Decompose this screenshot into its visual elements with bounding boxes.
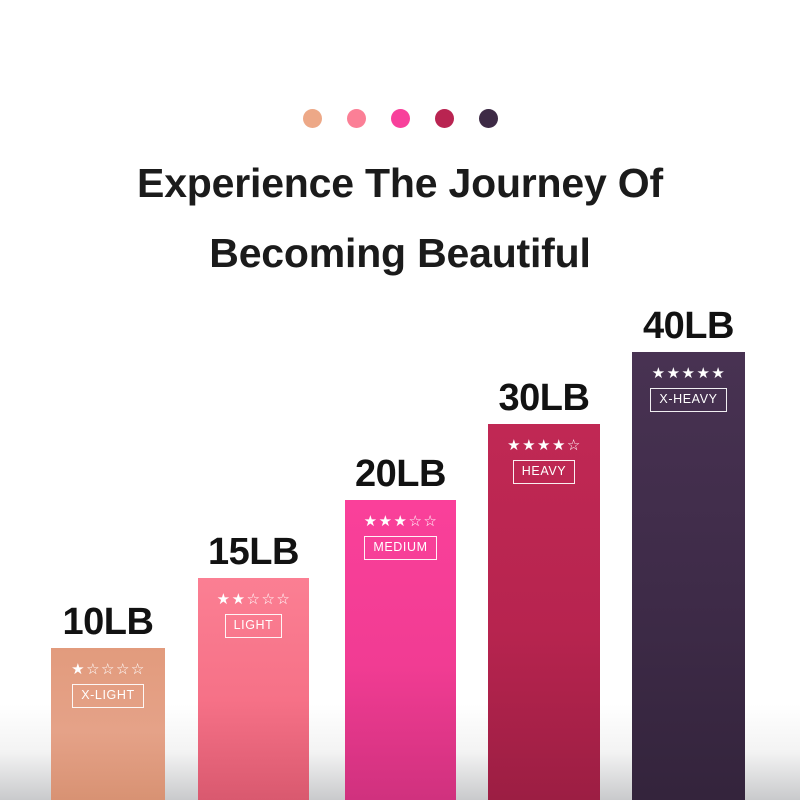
- bar-40lb-gradient-fill: [632, 352, 745, 800]
- star-empty-icon: ☆: [116, 662, 130, 677]
- bar-30lb-star-rating: ★★★★☆: [507, 438, 581, 453]
- star-filled-icon: ★: [217, 592, 231, 607]
- bar-15lb-rating-block: ★★☆☆☆LIGHT: [198, 578, 309, 638]
- bar-30lb-level-badge: HEAVY: [513, 460, 575, 484]
- star-filled-icon: ★: [682, 366, 696, 381]
- bar-15lb-value-label: 15LB: [208, 532, 299, 578]
- bar-30lb-column: ★★★★☆HEAVY: [488, 424, 600, 800]
- star-empty-icon: ☆: [261, 592, 275, 607]
- star-empty-icon: ☆: [101, 662, 115, 677]
- star-filled-icon: ★: [394, 514, 408, 529]
- star-filled-icon: ★: [507, 438, 521, 453]
- star-empty-icon: ☆: [86, 662, 100, 677]
- bar-10lb-rating-block: ★☆☆☆☆X-LIGHT: [51, 648, 165, 708]
- bar-15lb-level-badge: LIGHT: [225, 614, 283, 638]
- star-filled-icon: ★: [379, 514, 393, 529]
- bar-20lb-column: ★★★☆☆MEDIUM: [345, 500, 456, 800]
- bar-40lb-level-badge: X-HEAVY: [650, 388, 726, 412]
- star-empty-icon: ☆: [567, 438, 581, 453]
- bar-10lb-value-label: 10LB: [63, 602, 154, 648]
- star-filled-icon: ★: [652, 366, 666, 381]
- bar-10lb-column: ★☆☆☆☆X-LIGHT: [51, 648, 165, 800]
- star-filled-icon: ★: [552, 438, 566, 453]
- bar-10lb-star-rating: ★☆☆☆☆: [71, 662, 145, 677]
- bar-30lb-rating-block: ★★★★☆HEAVY: [488, 424, 600, 484]
- bar-40lb[interactable]: 40LB★★★★★X-HEAVY: [632, 352, 745, 800]
- star-empty-icon: ☆: [276, 592, 290, 607]
- star-filled-icon: ★: [364, 514, 378, 529]
- star-filled-icon: ★: [522, 438, 536, 453]
- bar-40lb-column: ★★★★★X-HEAVY: [632, 352, 745, 800]
- bar-20lb-level-badge: MEDIUM: [364, 536, 436, 560]
- star-filled-icon: ★: [696, 366, 710, 381]
- bar-10lb-level-badge: X-LIGHT: [72, 684, 144, 708]
- bar-15lb-star-rating: ★★☆☆☆: [217, 592, 291, 607]
- bar-40lb-star-rating: ★★★★★: [652, 366, 726, 381]
- star-filled-icon: ★: [537, 438, 551, 453]
- bar-40lb-rating-block: ★★★★★X-HEAVY: [632, 352, 745, 412]
- promo-banner: Experience The Journey Of Becoming Beaut…: [0, 0, 800, 800]
- star-filled-icon: ★: [71, 662, 85, 677]
- star-filled-icon: ★: [667, 366, 681, 381]
- bar-20lb-star-rating: ★★★☆☆: [364, 514, 438, 529]
- star-empty-icon: ☆: [131, 662, 145, 677]
- star-empty-icon: ☆: [423, 514, 437, 529]
- bar-15lb-column: ★★☆☆☆LIGHT: [198, 578, 309, 800]
- bar-30lb-value-label: 30LB: [499, 378, 590, 424]
- star-filled-icon: ★: [711, 366, 725, 381]
- bar-20lb-rating-block: ★★★☆☆MEDIUM: [345, 500, 456, 560]
- resistance-band-bar-chart: 10LB★☆☆☆☆X-LIGHT15LB★★☆☆☆LIGHT20LB★★★☆☆M…: [0, 0, 800, 800]
- bar-15lb[interactable]: 15LB★★☆☆☆LIGHT: [198, 578, 309, 800]
- bar-10lb[interactable]: 10LB★☆☆☆☆X-LIGHT: [51, 648, 165, 800]
- bar-30lb[interactable]: 30LB★★★★☆HEAVY: [488, 424, 600, 800]
- bar-40lb-value-label: 40LB: [643, 306, 734, 352]
- bar-20lb-value-label: 20LB: [355, 454, 446, 500]
- bar-20lb[interactable]: 20LB★★★☆☆MEDIUM: [345, 500, 456, 800]
- star-empty-icon: ☆: [408, 514, 422, 529]
- star-filled-icon: ★: [232, 592, 246, 607]
- star-empty-icon: ☆: [247, 592, 261, 607]
